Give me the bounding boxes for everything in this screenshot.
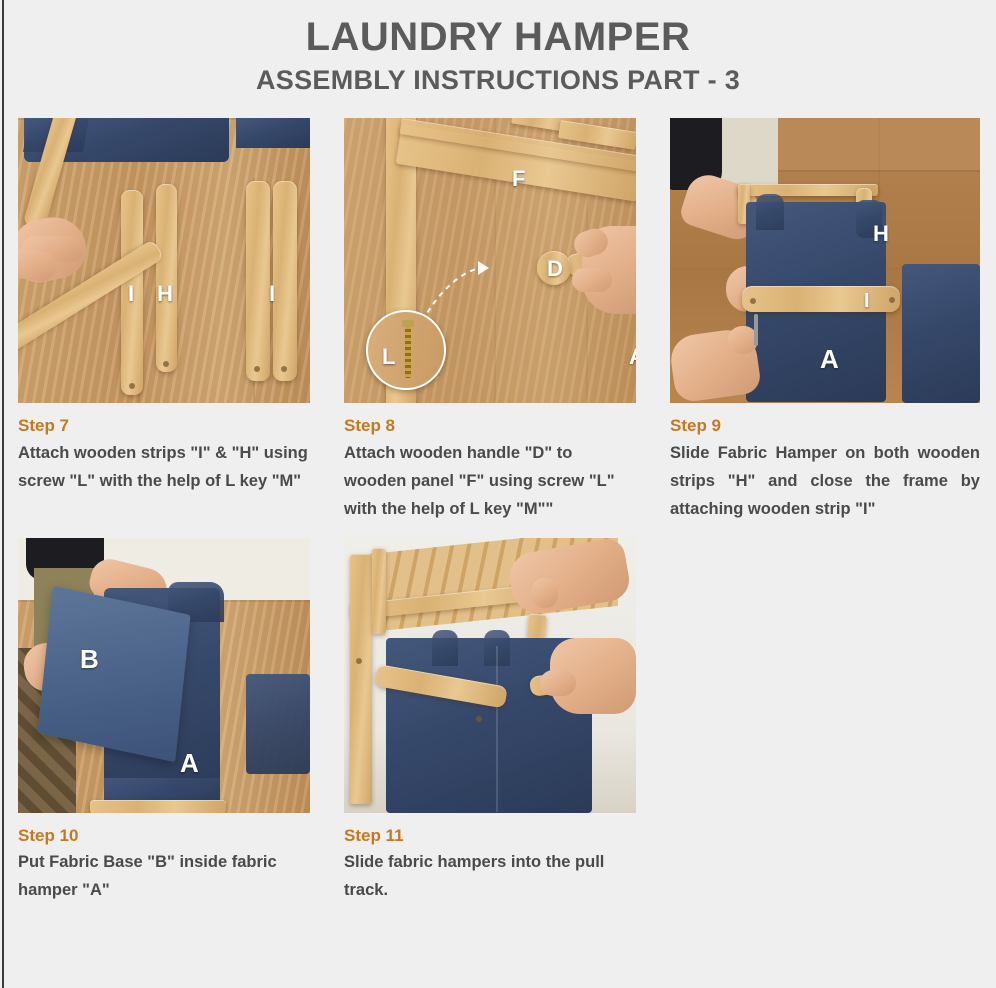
photo-label-B: B [80,646,99,672]
step-9-photo: H I A [670,118,980,403]
step-card-7: I H I Step 7 Attach wooden strips "I" & … [18,118,310,523]
photo-label-I-1: I [128,283,134,305]
photo-label-A: A [820,346,839,372]
fabric-base-B [37,586,190,762]
photo-label-I: I [864,291,870,311]
step-7-label: Step 7 [18,415,310,436]
photo-label-A: A [180,750,199,776]
step-card-10: B A Step 10 Put Fabric Base "B" inside f… [18,538,310,905]
step-9-label: Step 9 [670,415,980,436]
steps-grid: I H I Step 7 Attach wooden strips "I" & … [18,118,978,904]
wooden-strip-I [742,286,900,312]
fabric-piece-spare [246,674,310,774]
wooden-bar [90,800,226,813]
step-9-text: Slide Fabric Hamper on both wooden strip… [670,439,980,524]
step-8-photo: L F D A [344,118,636,403]
fabric-hamper-second [902,264,980,403]
photo-label-I-2: I [269,283,275,305]
frame-leg-left [350,554,372,804]
step-9-caption: Step 9 Slide Fabric Hamper on both woode… [670,415,980,523]
page-header: LAUNDRY HAMPER ASSEMBLY INSTRUCTIONS PAR… [18,0,978,96]
photo-label-F: F [512,168,525,190]
step-8-label: Step 8 [344,415,636,436]
step-11-caption: Step 11 Slide fabric hampers into the pu… [344,825,636,905]
wooden-strip-I-right-b [273,181,297,381]
photo-label-D: D [547,258,563,280]
step-10-photo: B A [18,538,310,813]
step-card-11: Step 11 Slide fabric hampers into the pu… [344,538,636,905]
step-11-photo [344,538,636,813]
step-11-label: Step 11 [344,825,636,846]
step-8-text: Attach wooden handle "D" to wooden panel… [344,439,636,524]
step-card-8: L F D A Step 8 Attach wooden handle "D" … [344,118,636,523]
step-7-caption: Step 7 Attach wooden strips "I" & "H" us… [18,415,310,495]
wooden-strip-H [156,184,177,372]
instruction-page: LAUNDRY HAMPER ASSEMBLY INSTRUCTIONS PAR… [0,0,996,988]
page-title: LAUNDRY HAMPER [18,14,978,60]
step-10-text: Put Fabric Base "B" inside fabric hamper… [18,848,310,905]
step-7-photo: I H I [18,118,310,403]
photo-label-H: H [873,223,889,245]
l-key-tool [754,314,758,346]
step-11-text: Slide fabric hampers into the pull track… [344,848,636,905]
photo-label-A: A [629,346,636,368]
step-10-label: Step 10 [18,825,310,846]
step-8-caption: Step 8 Attach wooden handle "D" to woode… [344,415,636,523]
fabric-hamper-piece-2 [236,118,310,148]
step-card-9: H I A Step 9 Slide Fabric Hamper on both… [670,118,980,523]
step-7-text: Attach wooden strips "I" & "H" using scr… [18,439,310,496]
page-subtitle: ASSEMBLY INSTRUCTIONS PART - 3 [18,64,978,96]
step-10-caption: Step 10 Put Fabric Base "B" inside fabri… [18,825,310,905]
photo-label-H: H [157,283,173,305]
wooden-strip-I-right-a [246,181,270,381]
photo-label-L: L [382,346,395,368]
screw-detail-inset [366,310,446,390]
